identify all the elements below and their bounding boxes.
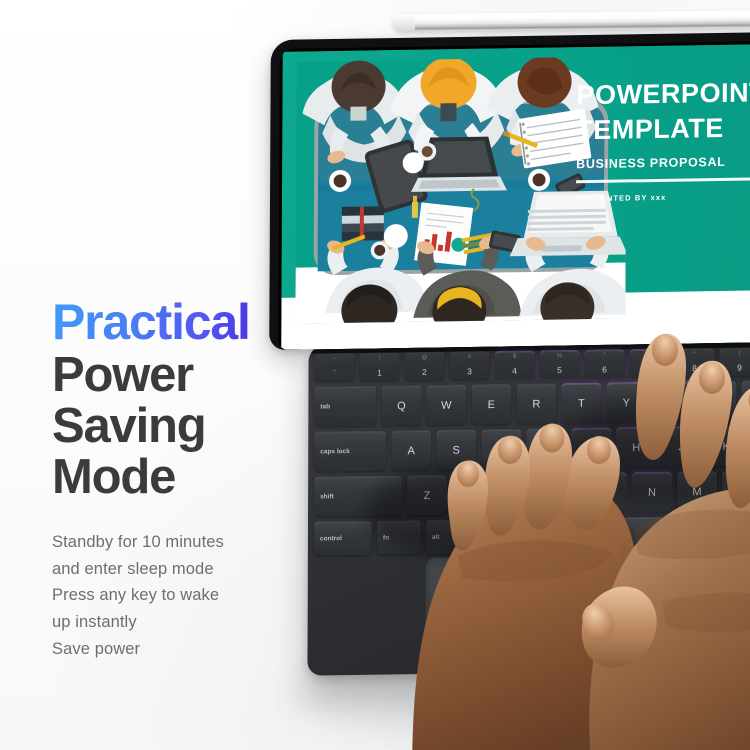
key-n[interactable]: N (632, 472, 672, 513)
slide-title-line1: POWERPOINT (576, 77, 750, 110)
screen-bezel: POWERPOINT TEMPLATE BUSINESS PROPOSAL PR… (278, 41, 750, 350)
copy-block: Practical Power Saving Mode Standby for … (52, 296, 342, 662)
key-e[interactable]: E (471, 384, 511, 425)
headline-line-2: Saving (52, 401, 342, 452)
key-7[interactable]: &7 (629, 349, 669, 378)
headline-line-3: Mode (52, 452, 342, 503)
keyboard-case[interactable]: ~` !1 @2 #3 $4 %5 ^6 &7 *8 (9 )0 t (307, 338, 750, 675)
key-comma[interactable]: < (722, 470, 750, 511)
key-d[interactable]: D (481, 429, 521, 470)
description-line-3: Press any key to wake (52, 582, 342, 609)
key-q[interactable]: Q (381, 385, 421, 426)
key-g[interactable]: G (571, 427, 611, 468)
tablet-display[interactable]: POWERPOINT TEMPLATE BUSINESS PROPOSAL PR… (281, 44, 750, 350)
key-u[interactable]: U (651, 381, 691, 422)
key-c[interactable]: C (497, 473, 537, 514)
key-8[interactable]: *8 (674, 348, 714, 377)
page-title: Practical Power Saving Mode (52, 296, 342, 503)
key-command-left[interactable]: cmd (475, 519, 525, 554)
key-option-right[interactable]: opt (740, 515, 750, 550)
key-r[interactable]: R (516, 383, 556, 424)
key-j[interactable]: J (661, 426, 701, 467)
slide-subtitle: BUSINESS PROPOSAL (576, 154, 750, 172)
key-command-right[interactable]: cmd (685, 516, 735, 551)
key-m[interactable]: M (677, 471, 717, 512)
keyboard-row-home: caps lock A S D F G H J K L (314, 424, 750, 471)
trackpad[interactable] (425, 554, 726, 676)
key-6[interactable]: ^6 (584, 349, 624, 378)
key-2[interactable]: @2 (404, 352, 444, 381)
description-line-1: Standby for 10 minutes (52, 529, 342, 556)
poster-canvas: POWERPOINT TEMPLATE BUSINESS PROPOSAL PR… (0, 0, 750, 750)
keyboard-row-shift: shift Z X C V B N M < (314, 469, 750, 516)
key-k[interactable]: K (706, 426, 746, 467)
description-line-5: Save power (52, 636, 342, 663)
key-h[interactable]: H (616, 427, 656, 468)
description-text: Standby for 10 minutes and enter sleep m… (52, 529, 342, 663)
slide-divider-rule (576, 177, 750, 184)
key-9[interactable]: (9 (719, 347, 750, 376)
slide-text-block: POWERPOINT TEMPLATE BUSINESS PROPOSAL PR… (576, 77, 750, 203)
key-3[interactable]: #3 (449, 351, 489, 380)
key-well: ~` !1 @2 #3 $4 %5 ^6 &7 *8 (9 )0 t (314, 346, 750, 511)
key-y[interactable]: Y (606, 382, 646, 423)
stylus-tip (393, 14, 415, 31)
key-space[interactable] (530, 516, 680, 552)
key-w[interactable]: W (426, 384, 466, 425)
headline-line-1: Power (52, 350, 342, 401)
key-o[interactable]: O (741, 380, 750, 421)
key-t[interactable]: T (561, 383, 601, 424)
headline-accent-word: Practical (52, 296, 342, 350)
key-s[interactable]: S (436, 429, 476, 470)
slide-title-line2: TEMPLATE (576, 112, 750, 145)
key-i[interactable]: I (696, 381, 736, 422)
key-x[interactable]: X (452, 474, 492, 515)
key-b[interactable]: B (587, 472, 627, 513)
description-line-4: up instantly (52, 609, 342, 636)
key-1[interactable]: !1 (359, 352, 399, 381)
key-z[interactable]: Z (407, 475, 447, 516)
keyboard-row-modifiers: control fn alt cmd cmd opt (314, 514, 750, 555)
stylus-pen[interactable] (393, 10, 750, 31)
key-fn[interactable]: fn (377, 520, 421, 555)
key-a[interactable]: A (391, 430, 431, 471)
key-5[interactable]: %5 (539, 350, 579, 379)
key-4[interactable]: $4 (494, 350, 534, 379)
description-line-2: and enter sleep mode (52, 556, 342, 583)
key-v[interactable]: V (542, 473, 582, 514)
presentation-slide: POWERPOINT TEMPLATE BUSINESS PROPOSAL PR… (281, 44, 750, 350)
key-f[interactable]: F (526, 428, 566, 469)
key-alt[interactable]: alt (426, 519, 470, 554)
keyboard-row-qwerty: tab Q W E R T Y U I O P (314, 379, 750, 426)
slide-byline: PRESENTED BY xxx (576, 191, 750, 204)
